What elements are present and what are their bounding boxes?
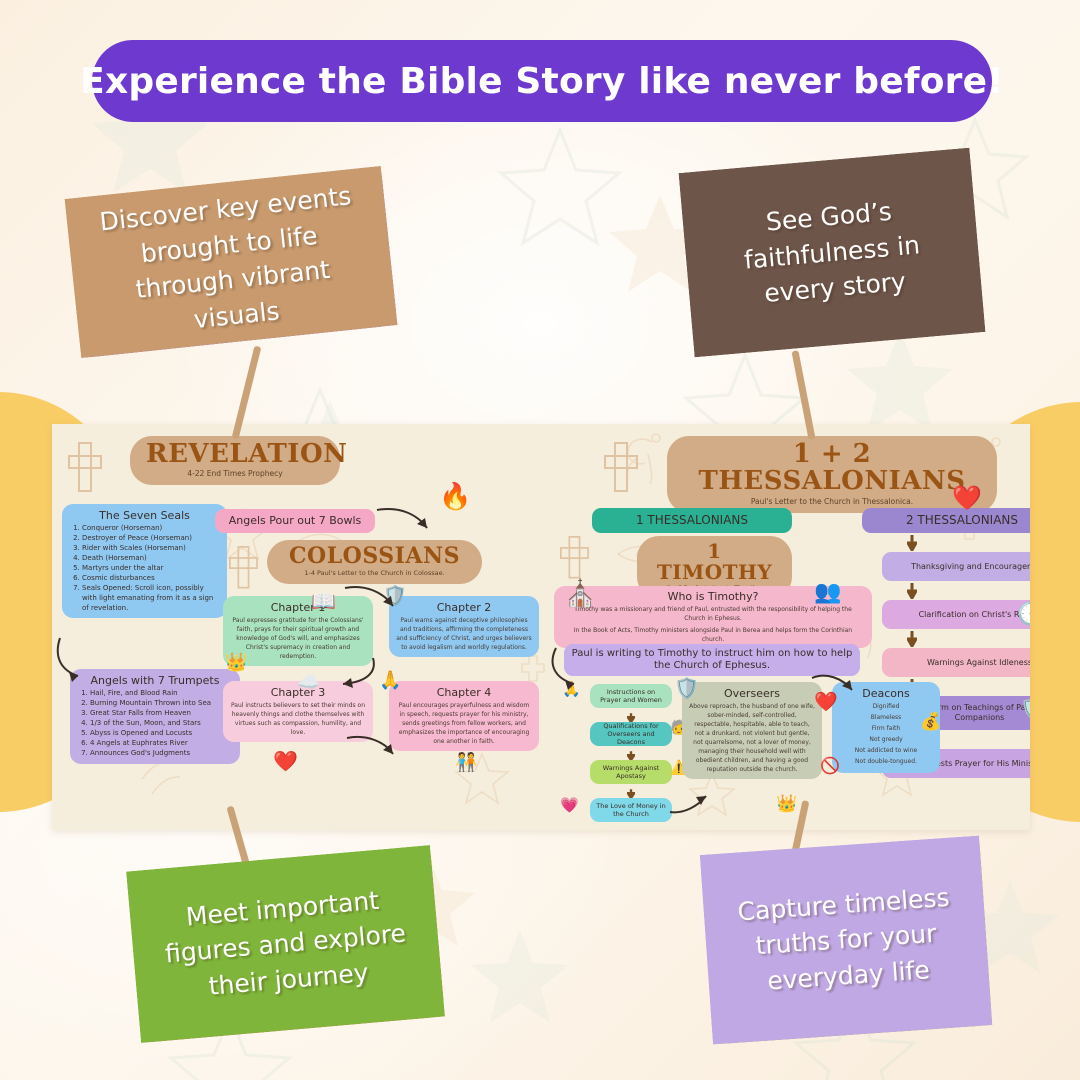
chapter-text: Paul warns against deceptive philosophie… xyxy=(396,616,532,652)
chapter-text: Paul instructs believers to set their mi… xyxy=(230,701,366,737)
clock-icon: 🕐 xyxy=(1017,602,1030,627)
crown-icon-overseers: 👑 xyxy=(776,794,797,814)
colossians-title-pill: COLOSSIANS 1-4 Paul's Letter to the Chur… xyxy=(267,540,482,584)
timothy-title: 1 TIMOTHY xyxy=(653,541,776,583)
callout-bubble: Discover key events brought to life thro… xyxy=(65,166,398,358)
heart-icon-thessalonians: ❤️ xyxy=(952,484,982,512)
card-overseers[interactable]: Overseers Above reproach, the husband of… xyxy=(682,682,822,779)
shield-icon-overseers: 🛡️ xyxy=(674,676,699,700)
card-colossians-chapter-4[interactable]: Chapter 4 Paul encourages prayerfulness … xyxy=(389,681,539,751)
timothy-flow-4[interactable]: The Love of Money in the Church xyxy=(590,798,672,822)
list-item: Cosmic disturbances xyxy=(82,574,220,584)
arrow-seals-to-trumpets xyxy=(54,636,94,684)
crown-icon-colossians: 👑 xyxy=(225,652,247,673)
colossians-subtitle: 1-4 Paul's Letter to the Church in Colos… xyxy=(283,569,466,577)
chapter-label: Chapter 4 xyxy=(396,686,532,699)
arrow-purpose-to-flow xyxy=(548,646,588,692)
callout-truths[interactable]: Capture timeless truths for your everyda… xyxy=(700,835,993,1044)
callout-text: Discover key events brought to life thro… xyxy=(91,177,370,346)
deacons-item: Blameless xyxy=(839,713,933,722)
list-item: Death (Horseman) xyxy=(82,554,220,564)
callout-bubble: Meet important figures and explore their… xyxy=(126,845,445,1043)
chapter-label: Chapter 2 xyxy=(396,601,532,614)
people-group-icon: 👥 xyxy=(814,580,841,605)
church-icon: ⛪ xyxy=(564,579,596,609)
arrow-ch1-to-ch2 xyxy=(343,584,399,616)
list-item: Conqueror (Horseman) xyxy=(82,524,220,534)
arrow-ch2-to-ch3 xyxy=(333,656,383,690)
list-item: Destroyer of Peace (Horseman) xyxy=(82,534,220,544)
no-wine-icon: 🚫 xyxy=(820,756,840,775)
deacons-item: Not addicted to wine xyxy=(839,746,933,755)
timothy-flow-3[interactable]: Warnings Against Apostasy xyxy=(590,760,672,784)
flaming-sword-icon: 🔥 xyxy=(439,482,471,512)
arrow-money-to-overseers xyxy=(668,792,712,818)
seven-seals-heading: The Seven Seals xyxy=(69,509,220,522)
cloud-icon: ☁️ xyxy=(297,672,319,693)
money-bag-icon: 💰 xyxy=(920,712,941,732)
thess2-item-2[interactable]: Clarification on Christ's Return xyxy=(882,600,1030,629)
shield-icon-thessalonians: 🛡️ xyxy=(1020,696,1030,720)
arrow-overseers-to-deacons xyxy=(810,672,856,698)
list-item: Martyrs under the altar xyxy=(82,564,220,574)
callout-text: Meet important figures and explore their… xyxy=(155,880,416,1008)
timothy-flow-1[interactable]: Instructions on Prayer and Women xyxy=(590,684,672,708)
overseers-heading: Overseers xyxy=(689,687,815,700)
colossians-title: COLOSSIANS xyxy=(283,545,466,568)
list-item: Seals Opened: Scroll icon, possibly with… xyxy=(82,584,220,614)
panel-1-timothy: 1 TIMOTHY 1 - 6 Paul's Letter to Timothy… xyxy=(542,424,892,830)
chapter-text: Paul encourages prayerfulness and wisdom… xyxy=(396,701,532,746)
hearts-icon: ❤️ xyxy=(273,749,298,773)
deacons-item: Not double-tongued. xyxy=(839,757,933,766)
callout-bubble: See God’s faithfulness in every story xyxy=(678,148,985,358)
arrow-ch3-to-ch4 xyxy=(345,734,399,764)
arrow-bowls-to-fire xyxy=(375,504,435,536)
callout-text: Capture timeless truths for your everyda… xyxy=(729,879,964,1001)
thess2-item-1[interactable]: Thanksgiving and Encouragement xyxy=(882,552,1030,581)
headline-banner: Experience the Bible Story like never be… xyxy=(92,40,992,122)
callout-bubble: Capture timeless truths for your everyda… xyxy=(700,835,993,1044)
seven-seals-list: Conqueror (Horseman) Destroyer of Peace … xyxy=(69,524,220,613)
deacons-item: Dignified xyxy=(839,702,933,711)
infographic-board[interactable]: REVELATION 4-22 End Times Prophecy The S… xyxy=(52,424,1030,830)
bible-icon: 📖 xyxy=(311,589,336,613)
callout-figures[interactable]: Meet important figures and explore their… xyxy=(126,845,445,1043)
people-icon: 🧑‍🤝‍🧑 xyxy=(455,752,477,773)
headline-text: Experience the Bible Story like never be… xyxy=(80,61,1004,102)
thess2-item-3[interactable]: Warnings Against Idleness xyxy=(882,648,1030,677)
money-heart-icon: 💗 xyxy=(560,796,579,814)
callout-faithfulness[interactable]: See God’s faithfulness in every story xyxy=(678,148,985,358)
list-item: Rider with Scales (Horseman) xyxy=(82,544,220,554)
deacons-item: Not greedy xyxy=(839,735,933,744)
who-is-timothy-line-1: Timothy was a missionary and friend of P… xyxy=(564,605,862,623)
card-colossians-chapter-2[interactable]: Chapter 2 Paul warns against deceptive p… xyxy=(389,596,539,657)
who-is-timothy-line-2: In the Book of Acts, Timothy ministers a… xyxy=(564,626,862,644)
card-seven-seals[interactable]: The Seven Seals Conqueror (Horseman) Des… xyxy=(62,504,227,618)
timothy-flow-2[interactable]: Qualifications for Overseers and Deacons xyxy=(590,722,672,746)
chapter-text: Paul expresses gratitude for the Colossi… xyxy=(230,616,366,661)
bowls-label[interactable]: Angels Pour out 7 Bowls xyxy=(215,509,375,533)
panel-colossians: Angels Pour out 7 Bowls 🔥 COLOSSIANS 1-4… xyxy=(207,424,582,830)
callout-text: See God’s faithfulness in every story xyxy=(708,189,956,316)
overseers-text: Above reproach, the husband of one wife,… xyxy=(689,702,815,774)
callout-discover[interactable]: Discover key events brought to life thro… xyxy=(65,166,398,358)
deacons-item: Firm faith xyxy=(839,724,933,733)
